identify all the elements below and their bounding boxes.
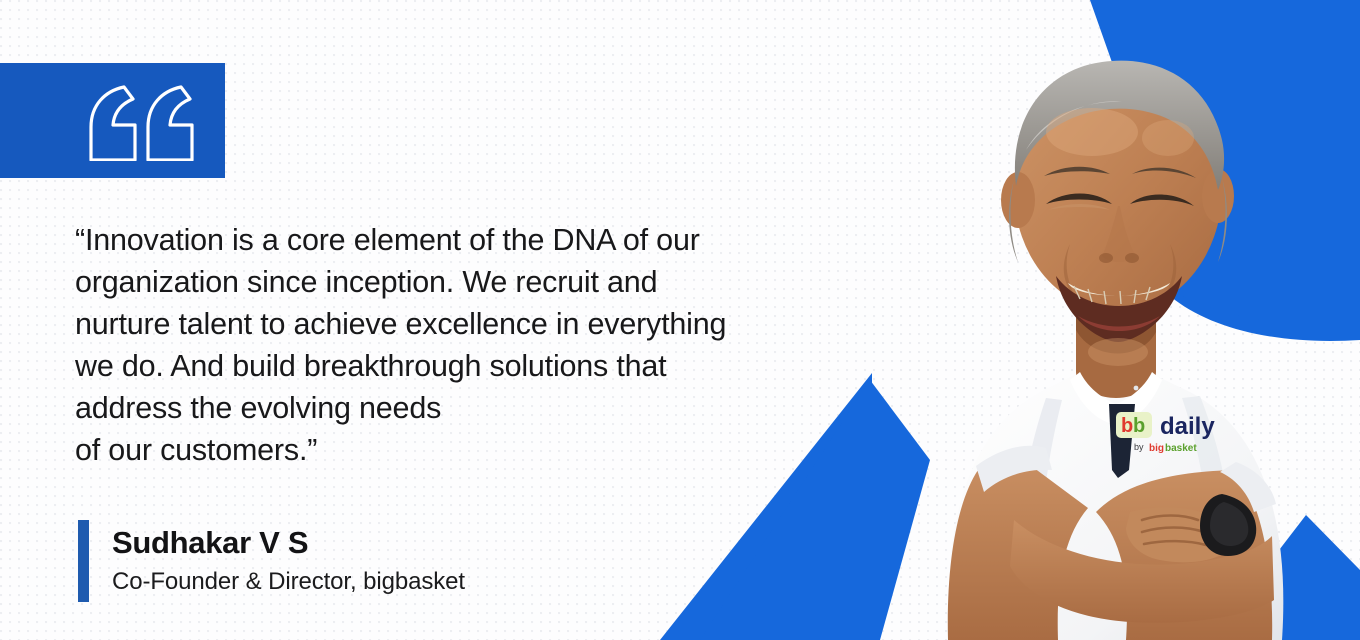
- author-role: Co-Founder & Director, bigbasket: [112, 565, 465, 599]
- testimonial-banner: “Innovation is a core element of the DNA…: [0, 0, 1360, 640]
- svg-text:b: b: [1121, 415, 1133, 437]
- svg-text:by: by: [1134, 442, 1144, 452]
- attribution-accent-bar: [78, 520, 89, 602]
- svg-text:basket: basket: [1165, 443, 1197, 454]
- attribution-text: Sudhakar V S Co-Founder & Director, bigb…: [89, 520, 465, 602]
- person-photo: b b daily by big basket: [830, 0, 1360, 640]
- attribution: Sudhakar V S Co-Founder & Director, bigb…: [78, 520, 465, 602]
- svg-text:b: b: [1133, 415, 1145, 437]
- svg-text:big: big: [1149, 443, 1164, 454]
- svg-text:daily: daily: [1160, 413, 1215, 440]
- quote-text: “Innovation is a core element of the DNA…: [75, 219, 865, 471]
- double-quote-open-icon: [88, 85, 198, 161]
- author-name: Sudhakar V S: [112, 523, 465, 563]
- quote-mark-badge: [0, 63, 225, 178]
